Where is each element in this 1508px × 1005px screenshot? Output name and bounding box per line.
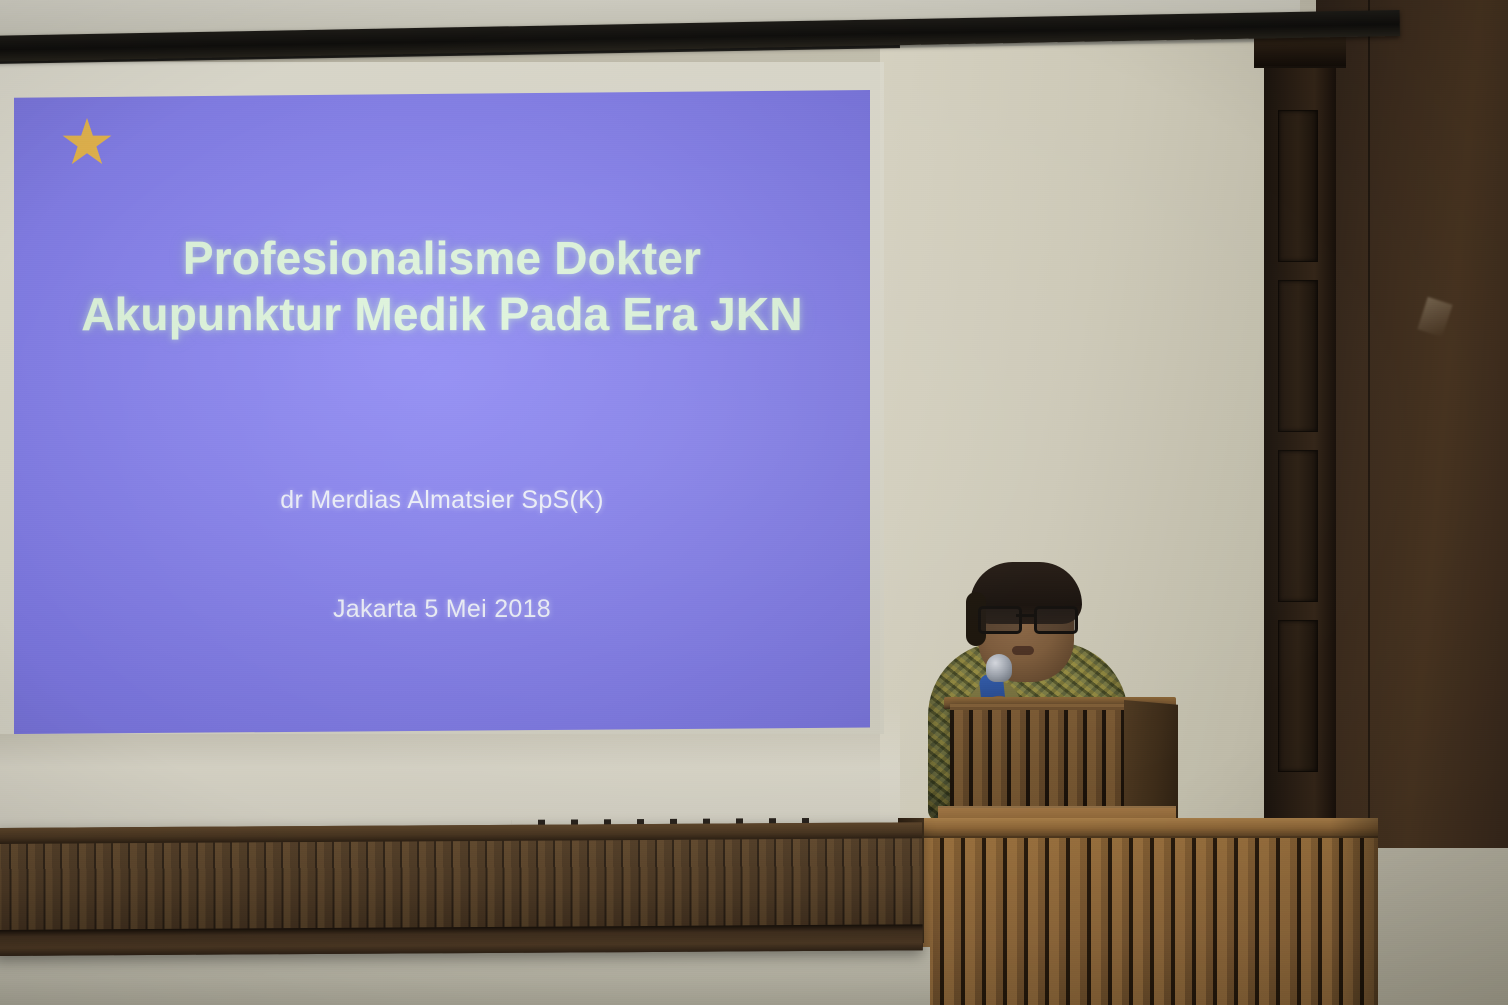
lens-left	[978, 606, 1022, 634]
slide-title-line-1: Profesionalisme Dokter	[14, 230, 870, 286]
slide-presenter-name: dr Merdias Almatsier SpS(K)	[14, 486, 870, 515]
slide-title: Profesionalisme Dokter Akupunktur Medik …	[14, 230, 870, 342]
slide-date: Jakarta 5 Mei 2018	[14, 595, 870, 624]
pilaster-panel	[1278, 280, 1318, 432]
pilaster-panel	[1278, 450, 1318, 602]
star-icon	[62, 118, 112, 168]
stage-slats	[898, 838, 1378, 1005]
lens-right	[1034, 606, 1078, 634]
slide-title-line-2: Akupunktur Medik Pada Era JKN	[14, 286, 870, 342]
wood-light-reflection	[1417, 297, 1452, 337]
projected-slide: Profesionalisme Dokter Akupunktur Medik …	[14, 90, 870, 734]
pilaster-panel	[1278, 110, 1318, 262]
pilaster-panel	[1278, 620, 1318, 772]
mouth	[1012, 646, 1034, 655]
date-text: Jakarta 5 Mei 2018	[333, 595, 551, 624]
wooden-wall-panel	[0, 822, 923, 956]
stage-right-shadow	[1330, 818, 1378, 1005]
hall-floor	[0, 947, 930, 1005]
photo-scene: Profesionalisme Dokter Akupunktur Medik …	[0, 0, 1508, 1005]
projection-screen: Profesionalisme Dokter Akupunktur Medik …	[0, 62, 884, 734]
eyeglasses-icon	[976, 606, 1076, 628]
stage-top-edge	[898, 818, 1378, 838]
presenter-text: dr Merdias Almatsier SpS(K)	[280, 486, 603, 515]
wooden-stage-front	[898, 818, 1378, 1005]
panel-slats	[0, 838, 923, 930]
wooden-wall-right	[1316, 0, 1508, 848]
glasses-bridge	[1016, 614, 1034, 617]
microphone-capsule	[986, 654, 1012, 682]
projection-vignette	[14, 90, 870, 734]
